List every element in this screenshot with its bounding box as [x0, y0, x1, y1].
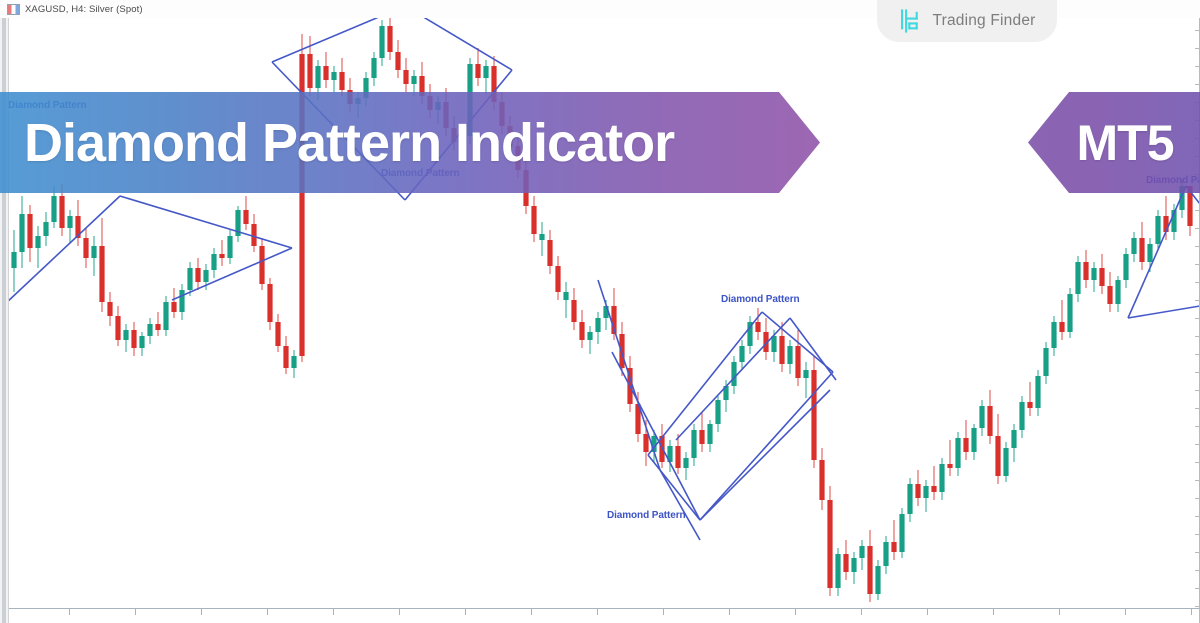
time-axis-tick — [1125, 608, 1126, 615]
price-axis-tick — [1195, 336, 1200, 337]
instrument-icon — [7, 4, 20, 15]
price-axis-tick — [1195, 498, 1200, 499]
trading-finder-logo-icon — [898, 8, 924, 34]
time-axis-tick — [135, 608, 136, 615]
banner-title: Diamond Pattern Indicator — [0, 112, 674, 174]
time-axis-tick — [1059, 608, 1060, 615]
time-axis-tick — [1191, 608, 1192, 615]
price-axis-tick — [1195, 426, 1200, 427]
time-axis-tick — [531, 608, 532, 615]
price-axis-tick — [1195, 354, 1200, 355]
price-axis-tick — [1195, 318, 1200, 319]
price-axis-tick — [1195, 228, 1200, 229]
time-axis-tick — [267, 608, 268, 615]
price-axis-tick — [1195, 570, 1200, 571]
price-axis-tick — [1195, 444, 1200, 445]
main-banner: Diamond Pattern Indicator — [0, 92, 820, 193]
time-axis-tick — [927, 608, 928, 615]
price-axis-tick — [1195, 552, 1200, 553]
time-axis-tick — [795, 608, 796, 615]
price-axis-tick — [1195, 480, 1200, 481]
price-axis-tick — [1195, 462, 1200, 463]
badge-label: MT5 — [1059, 114, 1174, 172]
price-axis-tick — [1195, 606, 1200, 607]
brand-logo-plate: Trading Finder — [877, 0, 1057, 42]
pattern-label-3: Diamond Pattern — [721, 294, 800, 305]
time-axis-tick — [729, 608, 730, 615]
time-axis-tick — [333, 608, 334, 615]
price-axis-tick — [1195, 534, 1200, 535]
price-axis-tick — [1195, 390, 1200, 391]
time-axis-tick — [597, 608, 598, 615]
price-axis-tick — [1195, 516, 1200, 517]
price-axis-tick — [1195, 66, 1200, 67]
time-axis-tick — [663, 608, 664, 615]
time-axis-tick — [861, 608, 862, 615]
time-axis-tick — [201, 608, 202, 615]
chart-symbol-label: XAGUSD, H4: Silver (Spot) — [25, 4, 143, 15]
price-axis-tick — [1195, 300, 1200, 301]
screenshot-root: XAGUSD, H4: Silver (Spot) Diamond Patter… — [0, 0, 1200, 623]
price-axis-tick — [1195, 84, 1200, 85]
price-axis-tick — [1195, 264, 1200, 265]
time-axis-tick — [399, 608, 400, 615]
time-axis-tick — [993, 608, 994, 615]
pattern-label-4: Diamond Pattern — [607, 510, 686, 521]
platform-badge: MT5 — [1028, 92, 1200, 193]
price-axis-tick — [1195, 246, 1200, 247]
time-axis-tick — [69, 608, 70, 615]
price-axis-tick — [1195, 210, 1200, 211]
time-axis — [9, 608, 1200, 609]
price-axis-tick — [1195, 408, 1200, 409]
time-axis-tick — [465, 608, 466, 615]
price-axis-tick — [1195, 282, 1200, 283]
price-axis-tick — [1195, 30, 1200, 31]
price-axis-tick — [1195, 588, 1200, 589]
price-axis-tick — [1195, 372, 1200, 373]
brand-name: Trading Finder — [932, 12, 1035, 30]
price-axis-tick — [1195, 48, 1200, 49]
